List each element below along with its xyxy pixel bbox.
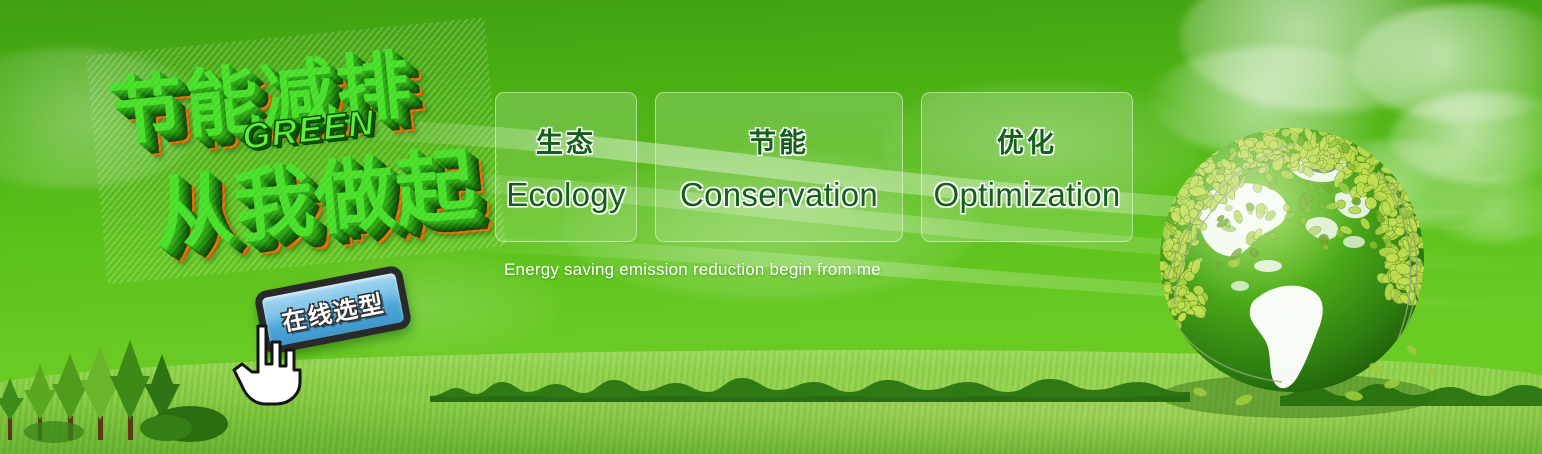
feature-cards: 生态 Ecology 节能 Conservation 优化 Optimizati…	[495, 92, 1133, 242]
green-energy-banner: 节能减排 从我做起 GREEN 在线选型 生态 Ecology 节能 Conse…	[0, 0, 1542, 454]
feature-card-ecology[interactable]: 生态 Ecology	[495, 92, 637, 242]
online-selection-button[interactable]: 在线选型	[253, 264, 412, 355]
online-selection-button-label: 在线选型	[279, 283, 388, 337]
cloud-icon	[1150, 46, 1400, 156]
tagline: Energy saving emission reduction begin f…	[504, 260, 881, 280]
cloud-icon	[1180, 0, 1480, 112]
feature-card-optimization[interactable]: 优化 Optimization	[921, 92, 1133, 242]
feature-card-en-label: Optimization	[934, 176, 1121, 214]
cloud-icon	[1390, 92, 1542, 184]
feature-card-cn-label: 节能	[749, 121, 809, 160]
headline-block: 节能减排 从我做起 GREEN	[86, 17, 506, 284]
feature-card-cn-label: 优化	[997, 121, 1057, 160]
grass-ground	[0, 350, 1542, 454]
feature-card-en-label: Conservation	[680, 176, 878, 214]
cloud-icon	[1288, 140, 1498, 226]
feature-card-conservation[interactable]: 节能 Conservation	[655, 92, 903, 242]
cloud-icon	[1420, 176, 1542, 242]
cloud-icon	[1352, 4, 1542, 122]
feature-card-en-label: Ecology	[506, 176, 626, 214]
feature-card-cn-label: 生态	[536, 121, 596, 160]
